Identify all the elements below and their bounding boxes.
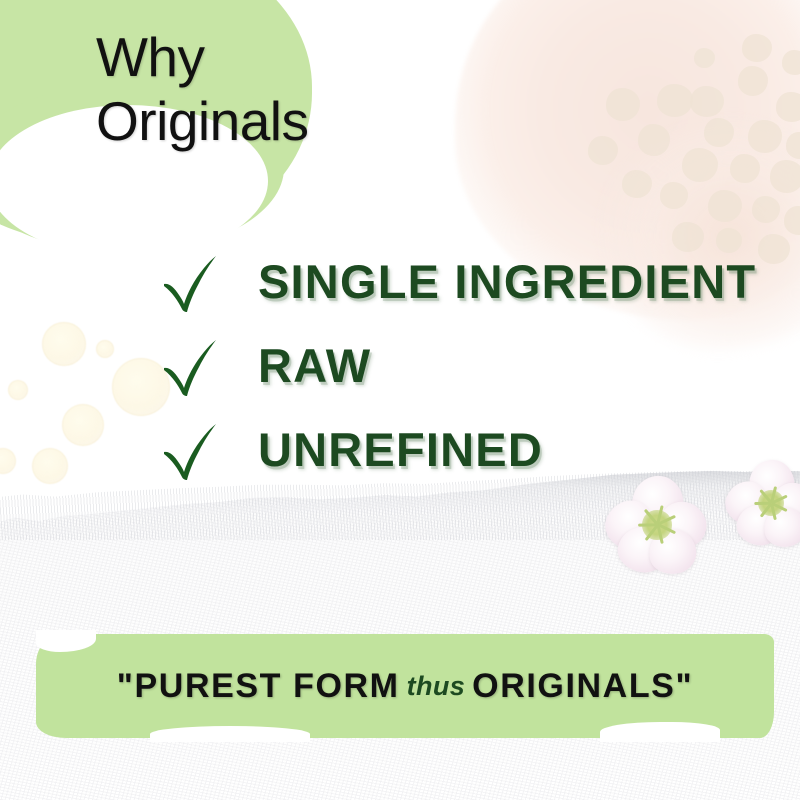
beige-dot [672, 222, 704, 252]
beige-dot [606, 88, 640, 121]
list-item: UNREFINED [160, 420, 780, 504]
page-title: Why Originals [96, 26, 326, 154]
beige-dot [748, 120, 782, 153]
check-icon [160, 254, 222, 316]
beige-dot [770, 160, 800, 193]
list-item: SINGLE INGREDIENT [160, 252, 780, 336]
beige-dot [638, 124, 670, 156]
cream-bubble [42, 322, 86, 366]
list-item-label: UNREFINED [258, 422, 543, 477]
beige-dot [782, 50, 800, 75]
title-line-2: Originals [96, 90, 326, 154]
beige-dot [738, 66, 768, 96]
beige-dot [716, 228, 742, 253]
cream-bubble [62, 404, 104, 446]
beige-dot [588, 136, 618, 165]
beige-dot [752, 196, 780, 223]
list-item-label: SINGLE INGREDIENT [258, 254, 756, 309]
beige-dot [682, 148, 718, 182]
title-line-1: Why [96, 26, 326, 90]
check-icon [160, 422, 222, 484]
beige-dot [708, 190, 742, 222]
tagline-text: "PUREST FORM thus ORIGINALS" [36, 634, 774, 738]
tagline-part-open: "PUREST FORM [117, 667, 400, 706]
cream-bubble [8, 380, 28, 400]
list-item: RAW [160, 336, 780, 420]
beige-dot [730, 154, 760, 183]
beige-dot [776, 92, 800, 122]
benefits-checklist: SINGLE INGREDIENT RAW UNREFINED [160, 252, 780, 504]
list-item-label: RAW [258, 338, 371, 393]
cream-bubble [96, 340, 114, 358]
beige-dot [742, 34, 772, 62]
beige-dot [657, 84, 693, 117]
beige-dot [704, 118, 734, 147]
beige-dot [660, 182, 688, 209]
tagline-part-close: ORIGINALS" [472, 667, 693, 706]
beige-dot [694, 48, 715, 68]
poster-canvas: Why Originals SINGLE INGREDIENT RAW [0, 0, 800, 800]
check-icon [160, 338, 222, 400]
tagline-accent-word: thus [400, 671, 473, 702]
beige-dot [622, 170, 652, 198]
cream-bubble [32, 448, 68, 484]
beige-dot [690, 86, 724, 117]
